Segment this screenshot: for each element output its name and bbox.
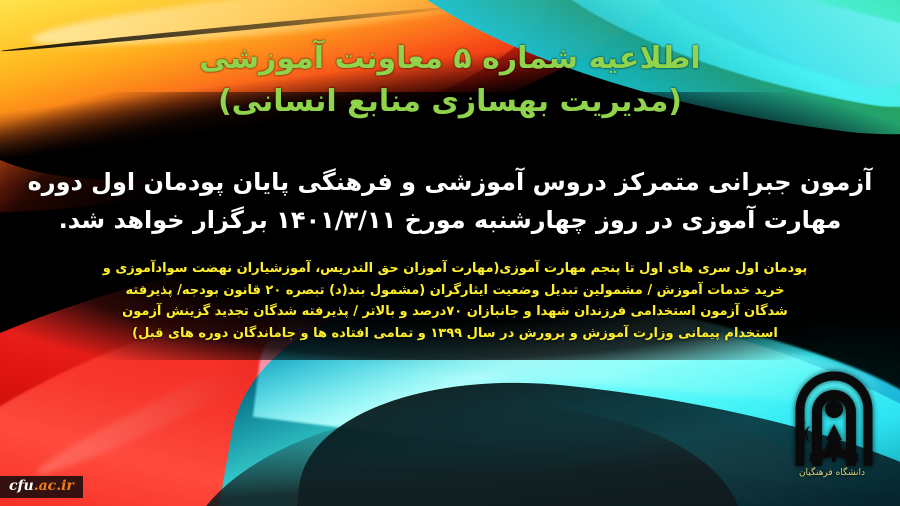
detail-line-3: شدگان آزمون استخدامی فرزندان شهدا و جانب… — [90, 301, 820, 323]
watermark-suffix: .ac.ir — [34, 478, 74, 494]
headline-line-2: مهارت آموزی در روز چهارشنبه مورخ ۱۴۰۱/۳/… — [0, 201, 900, 239]
title-line-1: اطلاعیه شماره ۵ معاونت آموزشی — [0, 38, 900, 81]
announcement-poster: اطلاعیه شماره ۵ معاونت آموزشی (مدیریت به… — [0, 0, 900, 506]
farhangian-university-logo-icon — [786, 366, 882, 472]
detail-line-1: پودمان اول سری های اول تا پنجم مهارت آمو… — [90, 258, 820, 280]
site-watermark: cfu.ac.ir — [0, 476, 83, 498]
detail-line-2: خرید خدمات آموزش / مشمولین تبدیل وضعیت ا… — [90, 280, 820, 302]
page-title: اطلاعیه شماره ۵ معاونت آموزشی (مدیریت به… — [0, 38, 900, 123]
headline-line-1: آزمون جبرانی متمرکز دروس آموزشی و فرهنگی… — [0, 163, 900, 201]
headline: آزمون جبرانی متمرکز دروس آموزشی و فرهنگی… — [0, 163, 900, 240]
detail-line-4: استخدام پیمانی وزارت آموزش و پرورش در سا… — [90, 323, 820, 345]
title-line-2: (مدیریت بهسازی منابع انسانی) — [0, 81, 900, 124]
details-paragraph: پودمان اول سری های اول تا پنجم مهارت آمو… — [90, 258, 820, 344]
watermark-prefix: cfu — [9, 478, 34, 494]
logo-caption: دانشگاه فرهنگیان — [788, 468, 876, 478]
poster-content: اطلاعیه شماره ۵ معاونت آموزشی (مدیریت به… — [0, 0, 900, 506]
